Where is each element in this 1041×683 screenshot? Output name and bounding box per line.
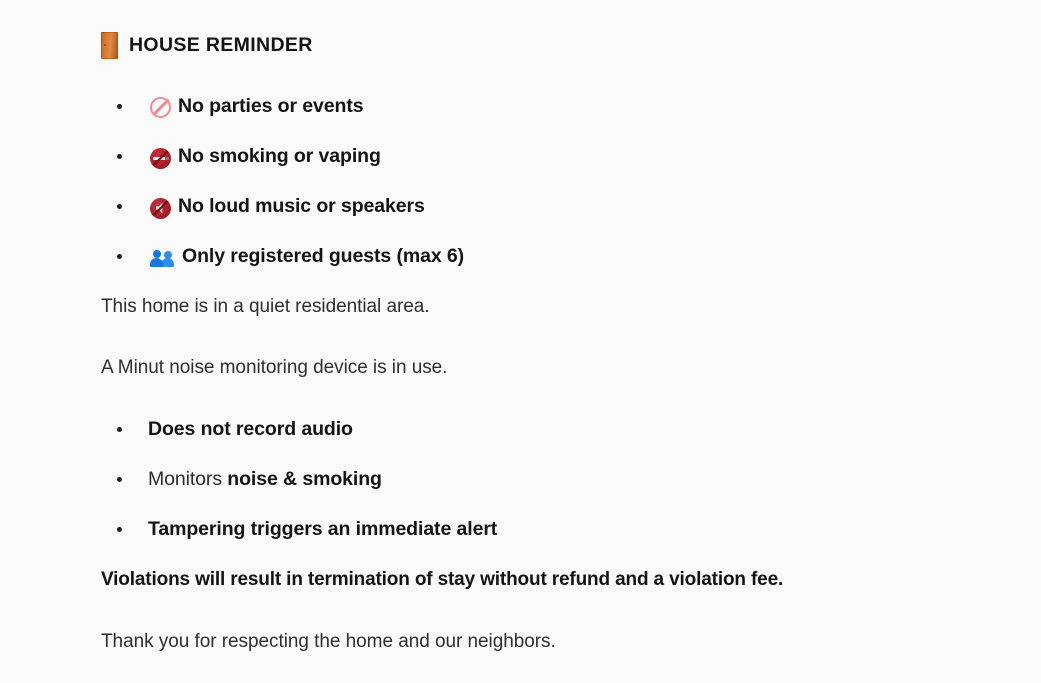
list-item: Only registered guests (max 6) — [0, 231, 464, 281]
device-fact-label: Tampering triggers an immediate alert — [148, 518, 497, 541]
bullet-icon — [117, 527, 122, 532]
no-smoking-icon — [150, 148, 171, 169]
list-item: Tampering triggers an immediate alert — [0, 504, 497, 554]
list-item: Does not record audio — [0, 404, 497, 454]
house-reminder-document: HOUSE REMINDER No parties or events No s… — [0, 0, 1041, 683]
rule-label: No parties or events — [178, 95, 363, 118]
quiet-area-paragraph: This home is in a quiet residential area… — [101, 296, 430, 318]
bullet-icon — [117, 254, 122, 259]
rule-label: No loud music or speakers — [178, 195, 425, 218]
device-fact-emphasis: noise & smoking — [227, 468, 382, 490]
device-fact-emphasis: Does not record audio — [148, 418, 353, 440]
door-icon — [101, 32, 118, 59]
rule-label: Only registered guests (max 6) — [182, 245, 464, 268]
list-item: No smoking or vaping — [0, 131, 464, 181]
rule-label: No smoking or vaping — [178, 145, 381, 168]
device-facts-list: Does not record audio Monitors noise & s… — [0, 404, 497, 554]
page-title: HOUSE REMINDER — [129, 34, 313, 57]
device-notice-paragraph: A Minut noise monitoring device is in us… — [101, 357, 447, 379]
device-fact-emphasis: Tampering triggers an immediate alert — [148, 518, 497, 540]
list-item: Monitors noise & smoking — [0, 454, 497, 504]
prohibited-icon — [150, 97, 171, 118]
bullet-icon — [117, 204, 122, 209]
bullet-icon — [117, 427, 122, 432]
document-header: HOUSE REMINDER — [101, 30, 313, 60]
device-fact-label: Monitors noise & smoking — [148, 468, 382, 491]
bullet-icon — [117, 477, 122, 482]
list-item: No parties or events — [0, 81, 464, 131]
list-item: No loud music or speakers — [0, 181, 464, 231]
people-icon — [150, 248, 175, 268]
house-rules-list: No parties or events No smoking or vapin… — [0, 81, 464, 281]
no-loud-music-icon — [150, 198, 171, 219]
device-fact-lead: Monitors — [148, 468, 227, 490]
thank-you-note: Thank you for respecting the home and ou… — [101, 631, 556, 653]
device-fact-label: Does not record audio — [148, 418, 353, 441]
bullet-icon — [117, 104, 122, 109]
violation-warning: Violations will result in termination of… — [101, 569, 783, 591]
bullet-icon — [117, 154, 122, 159]
